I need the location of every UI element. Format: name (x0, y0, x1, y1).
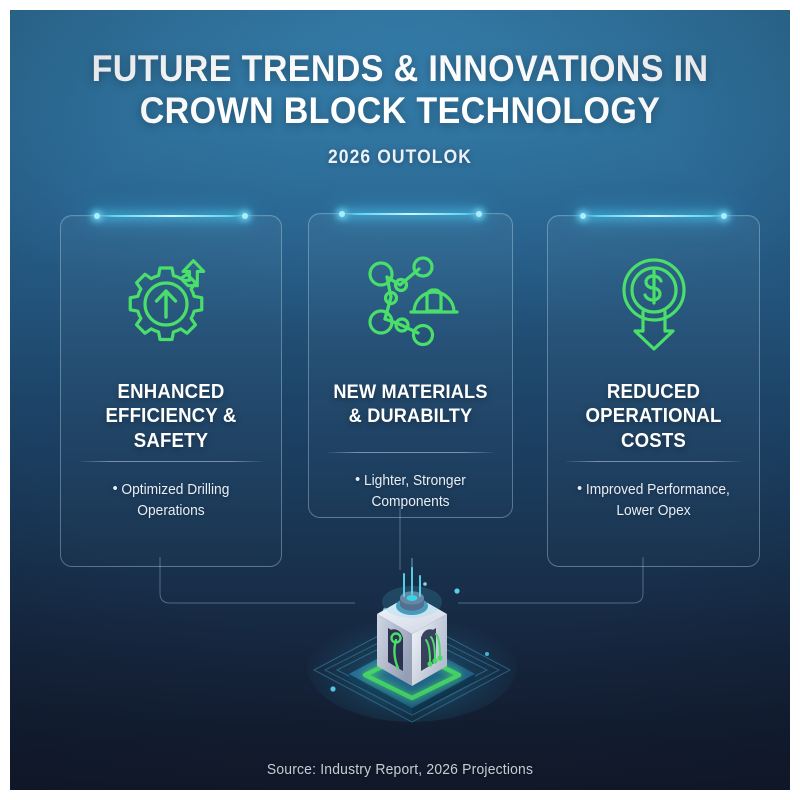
card-glow-dot-right (242, 213, 248, 219)
card-title: REDUCED OPERATIONAL COSTS (565, 380, 743, 453)
bullet-marker-icon: • (355, 469, 360, 490)
card-title-line-2: EFFICIENCY & (78, 404, 264, 428)
card-title-line-1: ENHANCED (78, 380, 264, 404)
card-title: ENHANCED EFFICIENCY & SAFETY (78, 380, 264, 453)
card-title-line-1: REDUCED (565, 380, 743, 404)
dollar-coin-down-arrow-icon (607, 254, 701, 352)
card-divider (566, 461, 741, 462)
bullet-marker-icon: • (113, 478, 118, 499)
card-divider (79, 461, 263, 462)
card-bullet-text-1: Lighter, Stronger (364, 473, 466, 489)
card-title-line-2: OPERATIONAL (565, 404, 743, 428)
page-subtitle: 2026 OUTOLOK (41, 147, 759, 169)
page-title-line-1: FUTURE TRENDS & INNOVATIONS IN (78, 48, 722, 90)
card-bullet-text-1: Improved Performance, (586, 482, 730, 498)
feature-card-new-materials-durability[interactable]: NEW MATERIALS & DURABILTY •Lighter, Stro… (308, 213, 513, 518)
infographic-canvas: FUTURE TRENDS & INNOVATIONS IN CROWN BLO… (10, 10, 790, 790)
card-bullet: •Optimized Drilling Operations (80, 478, 262, 521)
card-bullet: •Lighter, Stronger Components (327, 469, 493, 512)
card-icon-wrap (309, 252, 512, 348)
card-bullet-text-1: Optimized Drilling (121, 482, 229, 498)
card-title: NEW MATERIALS & DURABILTY (325, 381, 495, 429)
feature-card-enhanced-efficiency-safety[interactable]: ENHANCED EFFICIENCY & SAFETY •Optimized … (60, 215, 282, 567)
card-top-glow-bar (94, 215, 248, 217)
card-icon-wrap (61, 248, 281, 352)
gear-up-arrow-icon (119, 248, 223, 352)
card-title-line-1: NEW MATERIALS (325, 381, 495, 405)
card-bullet-line-1: •Lighter, Stronger (327, 469, 493, 492)
page-title: FUTURE TRENDS & INNOVATIONS IN CROWN BLO… (78, 48, 722, 132)
card-bullet-line-2: Operations (80, 501, 262, 522)
card-glow-dot-left (339, 211, 345, 217)
card-bullet-line-1: •Optimized Drilling (80, 478, 262, 501)
card-bullet-line-2: Lower Opex (567, 501, 741, 522)
card-title-line-3: SAFETY (78, 429, 264, 453)
card-bullet: •Improved Performance, Lower Opex (567, 478, 741, 521)
page-title-line-2: CROWN BLOCK TECHNOLOGY (78, 90, 722, 132)
isometric-crown-block-illustration (305, 558, 520, 723)
card-title-line-2: & DURABILTY (325, 405, 495, 429)
card-glow-dot-left (580, 213, 586, 219)
molecule-hardhat-icon (361, 252, 461, 348)
bullet-marker-icon: • (577, 478, 582, 499)
card-glow-dot-right (476, 211, 482, 217)
feature-card-reduced-operational-costs[interactable]: REDUCED OPERATIONAL COSTS •Improved Perf… (547, 215, 760, 567)
hero-illustration (305, 558, 520, 723)
card-bullet-line-1: •Improved Performance, (567, 478, 741, 501)
card-glow-dot-right (721, 213, 727, 219)
card-divider (327, 452, 494, 453)
card-title-line-3: COSTS (565, 429, 743, 453)
source-footer: Source: Industry Report, 2026 Projection… (26, 762, 775, 778)
card-bullet-line-2: Components (327, 492, 493, 513)
header: FUTURE TRENDS & INNOVATIONS IN CROWN BLO… (10, 48, 790, 169)
card-glow-dot-left (94, 213, 100, 219)
card-icon-wrap (548, 254, 759, 352)
card-top-glow-bar (339, 213, 481, 215)
card-top-glow-bar (580, 215, 728, 217)
